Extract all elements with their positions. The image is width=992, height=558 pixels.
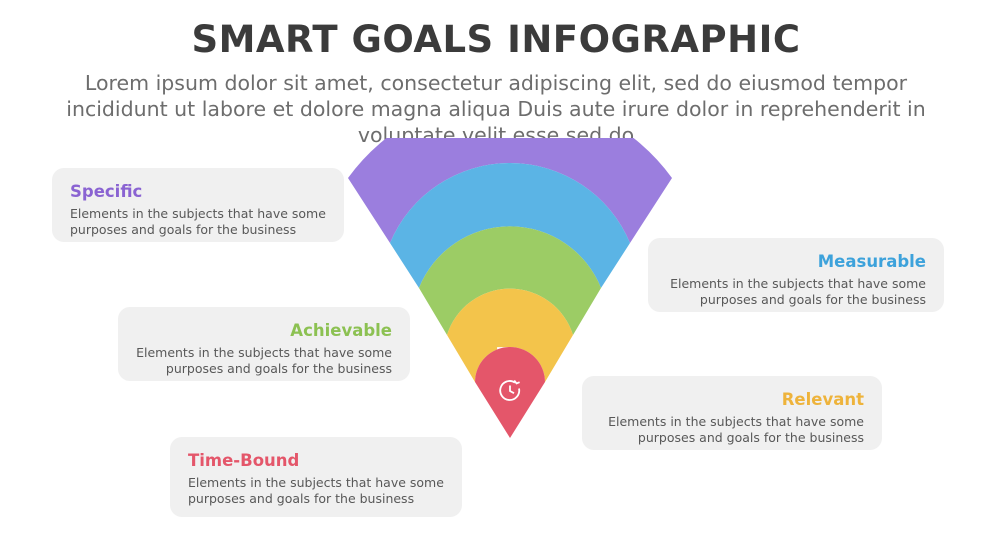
card-relevant-desc: Elements in the subjects that have some … [600, 414, 864, 446]
page-title: SMART GOALS INFOGRAPHIC [0, 18, 992, 61]
funnel-segment-time-bound[interactable] [475, 347, 545, 438]
infographic-page: SMART GOALS INFOGRAPHIC Lorem ipsum dolo… [0, 0, 992, 558]
card-achievable-title: Achievable [136, 321, 392, 340]
card-measurable[interactable]: Measurable Elements in the subjects that… [648, 238, 944, 312]
card-specific[interactable]: Specific Elements in the subjects that h… [52, 168, 344, 242]
card-achievable[interactable]: Achievable Elements in the subjects that… [118, 307, 410, 381]
card-achievable-desc: Elements in the subjects that have some … [136, 345, 392, 377]
card-relevant[interactable]: Relevant Elements in the subjects that h… [582, 376, 882, 450]
card-time-bound-title: Time-Bound [188, 451, 444, 470]
page-subtitle: Lorem ipsum dolor sit amet, consectetur … [46, 70, 946, 148]
card-measurable-desc: Elements in the subjects that have some … [666, 276, 926, 308]
card-measurable-title: Measurable [666, 252, 926, 271]
card-specific-title: Specific [70, 182, 326, 201]
card-time-bound[interactable]: Time-Bound Elements in the subjects that… [170, 437, 462, 517]
card-time-bound-desc: Elements in the subjects that have some … [188, 475, 444, 507]
card-relevant-title: Relevant [600, 390, 864, 409]
card-specific-desc: Elements in the subjects that have some … [70, 206, 326, 238]
